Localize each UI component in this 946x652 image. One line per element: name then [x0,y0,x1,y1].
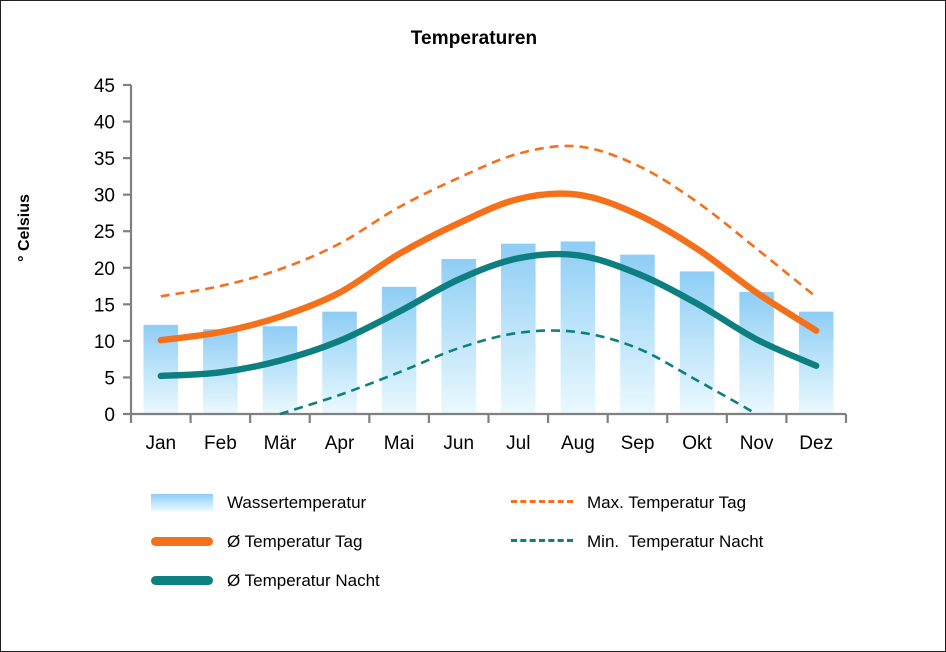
legend-item-label: Ø Temperatur Nacht [227,571,380,591]
bar-okt [680,271,715,414]
x-tick-jun: Jun [443,433,474,454]
legend-item[interactable]: Max. Temperatur Tag [511,493,871,513]
temperature-lines [161,146,816,414]
x-tick-nov: Nov [740,433,774,454]
bar-nov [739,292,774,414]
y-axis-tick-labels: 051015202530354045 [94,76,115,426]
legend-item-label: Ø Temperatur Tag [227,532,362,552]
chart-legend: WassertemperaturMax. Temperatur TagØ Tem… [151,483,851,600]
y-tick-10: 10 [94,332,115,353]
legend-swatch-bar [151,494,213,511]
y-tick-5: 5 [104,368,115,389]
x-tick-jan: Jan [145,433,176,454]
legend-item-label: Min. Temperatur Nacht [587,532,763,552]
bar-aug [561,241,596,414]
x-axis-tick-labels: JanFebMärAprMaiJunJulAugSepOktNovDez [145,433,833,454]
bar-jul [501,244,536,414]
series-line-max-temperatur-tag [161,146,816,297]
legend-swatch-dashed-line [511,500,573,503]
x-tick-mai: Mai [384,433,415,454]
y-tick-45: 45 [94,76,115,97]
x-tick-jul: Jul [506,433,530,454]
plot-area: 051015202530354045 JanFebMärAprMaiJunJul… [1,1,946,471]
x-tick-okt: Okt [682,433,712,454]
y-tick-15: 15 [94,295,115,316]
legend-item[interactable]: Min. Temperatur Nacht [511,532,871,552]
legend-swatch-solid-line [151,537,213,546]
legend-swatch-dashed-line [511,539,573,542]
y-tick-20: 20 [94,259,115,280]
x-tick-apr: Apr [325,433,355,454]
chart-container: Temperaturen ° Celsius 05101520253035404… [0,0,946,652]
x-tick-feb: Feb [204,433,237,454]
y-tick-40: 40 [94,113,115,134]
x-tick-mär: Mär [264,433,297,454]
y-tick-30: 30 [94,186,115,207]
x-tick-sep: Sep [621,433,655,454]
legend-item[interactable]: Ø Temperatur Nacht [151,571,511,591]
y-tick-25: 25 [94,222,115,243]
legend-item[interactable]: Ø Temperatur Tag [151,532,511,552]
x-tick-dez: Dez [799,433,833,454]
x-tick-aug: Aug [561,433,595,454]
legend-swatch-solid-line [151,576,213,585]
legend-item[interactable]: Wassertemperatur [151,493,511,513]
series-line-temperatur-nacht [161,254,816,376]
y-tick-35: 35 [94,149,115,170]
bar-mär [263,326,298,414]
y-tick-0: 0 [104,405,115,426]
legend-item-label: Max. Temperatur Tag [587,493,746,513]
legend-item-label: Wassertemperatur [227,493,366,513]
